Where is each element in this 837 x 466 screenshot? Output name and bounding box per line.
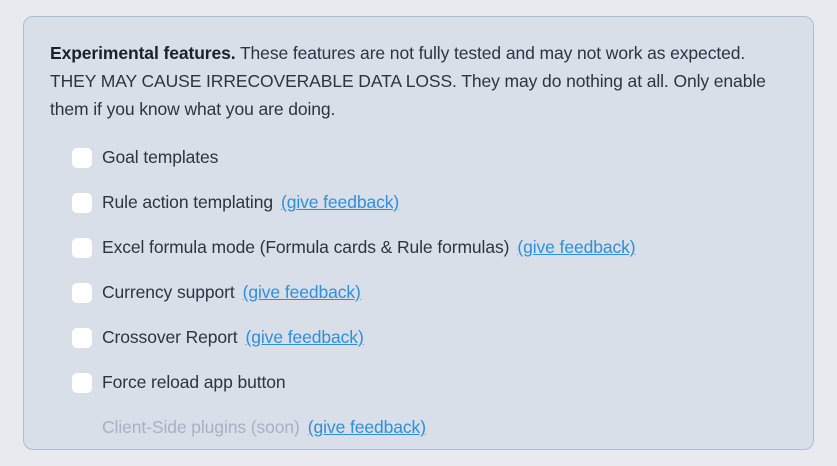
checkbox-excel-formula-mode[interactable]	[72, 238, 92, 258]
feature-row-excel-formula-mode[interactable]: Excel formula mode (Formula cards & Rule…	[50, 225, 787, 270]
checkbox-goal-templates[interactable]	[72, 148, 92, 168]
warning-lead-text: Experimental features.	[50, 43, 236, 63]
feature-label-currency-support: Currency support	[102, 282, 235, 303]
checkbox-force-reload-app-button[interactable]	[72, 373, 92, 393]
feedback-link-currency-support[interactable]: (give feedback)	[243, 282, 361, 303]
checkbox-crossover-report[interactable]	[72, 328, 92, 348]
feature-row-currency-support[interactable]: Currency support (give feedback)	[50, 270, 787, 315]
feedback-link-excel-formula-mode[interactable]: (give feedback)	[517, 237, 635, 258]
feature-toggle-list: Goal templates Rule action templating (g…	[50, 135, 787, 450]
experimental-features-page: Experimental features. These features ar…	[0, 0, 837, 466]
checkbox-currency-support[interactable]	[72, 283, 92, 303]
feature-label-client-side-plugins: Client-Side plugins (soon)	[102, 417, 300, 438]
feature-row-force-reload-app-button[interactable]: Force reload app button	[50, 360, 787, 405]
feature-row-client-side-plugins: Client-Side plugins (soon) (give feedbac…	[50, 405, 787, 450]
feature-label-goal-templates: Goal templates	[102, 147, 218, 168]
feature-label-excel-formula-mode: Excel formula mode (Formula cards & Rule…	[102, 237, 509, 258]
feedback-link-crossover-report[interactable]: (give feedback)	[246, 327, 364, 348]
experimental-features-panel: Experimental features. These features ar…	[23, 16, 814, 450]
feedback-link-client-side-plugins[interactable]: (give feedback)	[308, 417, 426, 438]
experimental-features-warning: Experimental features. These features ar…	[50, 39, 780, 123]
feature-label-crossover-report: Crossover Report	[102, 327, 238, 348]
checkbox-rule-action-templating[interactable]	[72, 193, 92, 213]
feature-label-force-reload-app-button: Force reload app button	[102, 372, 286, 393]
feature-row-goal-templates[interactable]: Goal templates	[50, 135, 787, 180]
feature-row-crossover-report[interactable]: Crossover Report (give feedback)	[50, 315, 787, 360]
feature-row-rule-action-templating[interactable]: Rule action templating (give feedback)	[50, 180, 787, 225]
feature-label-rule-action-templating: Rule action templating	[102, 192, 273, 213]
feedback-link-rule-action-templating[interactable]: (give feedback)	[281, 192, 399, 213]
